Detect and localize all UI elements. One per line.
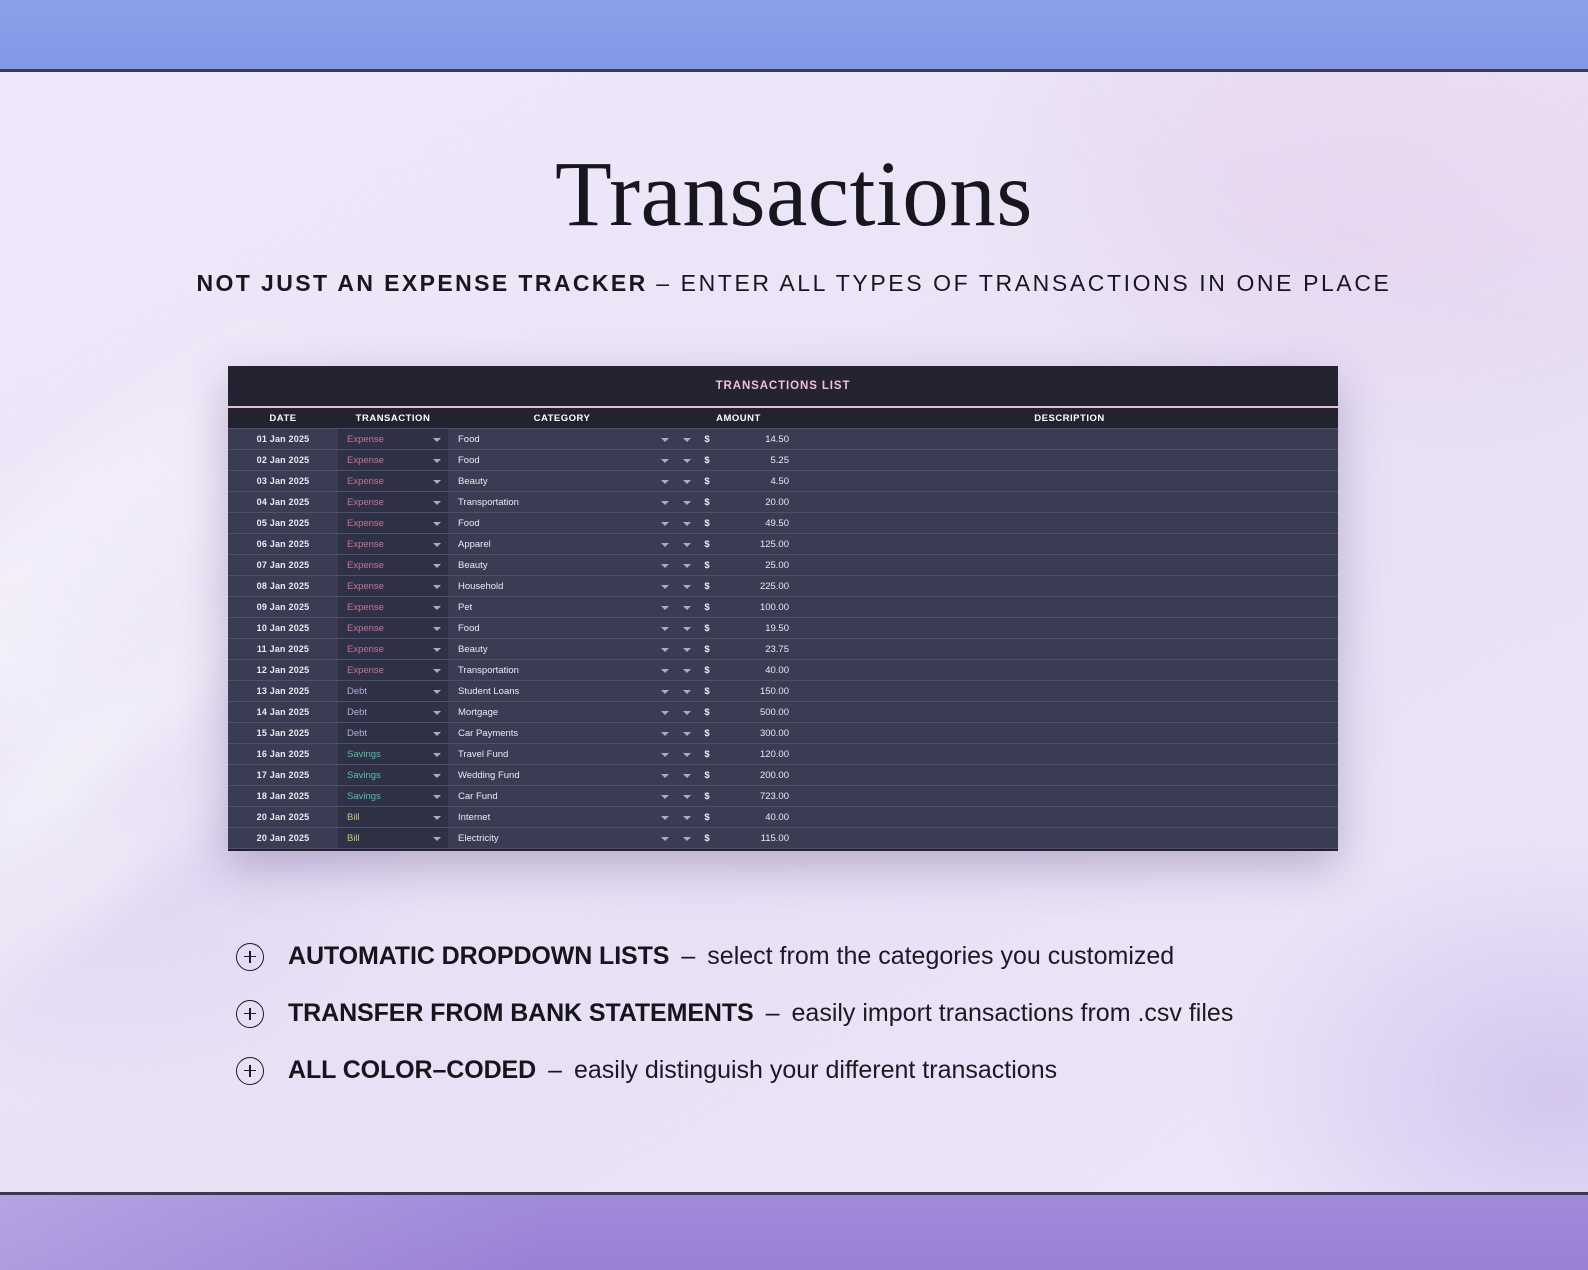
currency-symbol: $ <box>698 513 716 533</box>
category-dropdown[interactable]: Car Payments <box>448 723 676 743</box>
chevron-down-icon[interactable] <box>661 732 669 736</box>
chevron-down-icon[interactable] <box>683 711 691 715</box>
cell-amount[interactable]: 125.00 <box>716 534 801 554</box>
cell-amount[interactable]: 4.50 <box>716 471 801 491</box>
table-row[interactable]: 02 Jan 2025ExpenseFood$5.25 <box>228 450 1338 471</box>
sheet-title: TRANSACTIONS LIST <box>716 380 851 392</box>
currency-symbol: $ <box>698 555 716 575</box>
cell-amount[interactable]: 300.00 <box>716 723 801 743</box>
transaction-type-label: Savings <box>347 770 381 781</box>
transaction-type-dropdown[interactable]: Savings <box>338 786 448 806</box>
amount-dropdown[interactable] <box>676 429 698 449</box>
feature-description: easily distinguish your different transa… <box>574 1056 1057 1085</box>
cell-amount[interactable]: 25.00 <box>716 555 801 575</box>
category-dropdown[interactable]: Electricity <box>448 828 676 848</box>
category-label: Food <box>458 623 480 634</box>
amount-dropdown[interactable] <box>676 660 698 680</box>
chevron-down-icon[interactable] <box>433 690 441 694</box>
transactions-table-body: 01 Jan 2025ExpenseFood$14.5002 Jan 2025E… <box>228 429 1338 849</box>
chevron-down-icon[interactable] <box>433 837 441 841</box>
category-label: Internet <box>458 812 490 823</box>
cell-description[interactable] <box>801 618 1338 638</box>
amount-dropdown[interactable] <box>676 513 698 533</box>
category-label: Student Loans <box>458 686 519 697</box>
chevron-down-icon[interactable] <box>661 501 669 505</box>
column-header-transaction: TRANSACTION <box>338 413 448 424</box>
chevron-down-icon[interactable] <box>433 480 441 484</box>
transaction-type-label: Debt <box>347 686 367 697</box>
table-row[interactable]: 03 Jan 2025ExpenseBeauty$4.50 <box>228 471 1338 492</box>
cell-date: 07 Jan 2025 <box>228 555 338 575</box>
transaction-type-label: Bill <box>347 812 360 823</box>
chevron-down-icon[interactable] <box>661 438 669 442</box>
cell-date: 20 Jan 2025 <box>228 807 338 827</box>
feature-title: AUTOMATIC DROPDOWN LISTS <box>288 942 669 971</box>
chevron-down-icon[interactable] <box>683 690 691 694</box>
cell-description[interactable] <box>801 492 1338 512</box>
feature-description: select from the categories you customize… <box>707 942 1174 971</box>
cell-description[interactable] <box>801 555 1338 575</box>
amount-dropdown[interactable] <box>676 681 698 701</box>
chevron-down-icon[interactable] <box>683 522 691 526</box>
cell-description[interactable] <box>801 681 1338 701</box>
chevron-down-icon[interactable] <box>433 732 441 736</box>
amount-dropdown[interactable] <box>676 828 698 848</box>
chevron-down-icon[interactable] <box>661 816 669 820</box>
transaction-type-dropdown[interactable]: Expense <box>338 555 448 575</box>
cell-amount[interactable]: 200.00 <box>716 765 801 785</box>
transaction-type-dropdown[interactable]: Debt <box>338 681 448 701</box>
transaction-type-label: Savings <box>347 749 381 760</box>
cell-amount[interactable]: 100.00 <box>716 597 801 617</box>
category-dropdown[interactable]: Transportation <box>448 492 676 512</box>
currency-symbol: $ <box>698 492 716 512</box>
cell-amount[interactable]: 40.00 <box>716 807 801 827</box>
cell-amount[interactable]: 14.50 <box>716 429 801 449</box>
chevron-down-icon[interactable] <box>661 564 669 568</box>
chevron-down-icon[interactable] <box>683 564 691 568</box>
category-label: Food <box>458 518 480 529</box>
cell-date: 18 Jan 2025 <box>228 786 338 806</box>
transaction-type-dropdown[interactable]: Debt <box>338 723 448 743</box>
chevron-down-icon[interactable] <box>433 564 441 568</box>
currency-symbol: $ <box>698 765 716 785</box>
cell-description[interactable] <box>801 576 1338 596</box>
chevron-down-icon[interactable] <box>433 501 441 505</box>
currency-symbol: $ <box>698 702 716 722</box>
category-dropdown[interactable]: Transportation <box>448 660 676 680</box>
chevron-down-icon[interactable] <box>661 711 669 715</box>
transactions-spreadsheet: TRANSACTIONS LIST DATE TRANSACTION CATEG… <box>228 366 1338 851</box>
table-row[interactable]: 17 Jan 2025SavingsWedding Fund$200.00 <box>228 765 1338 786</box>
chevron-down-icon[interactable] <box>661 690 669 694</box>
feature-description: easily import transactions from .csv fil… <box>792 999 1234 1028</box>
category-label: Wedding Fund <box>458 770 520 781</box>
plus-circle-icon <box>236 943 264 971</box>
cell-date: 01 Jan 2025 <box>228 429 338 449</box>
currency-symbol: $ <box>698 534 716 554</box>
currency-symbol: $ <box>698 807 716 827</box>
transaction-type-dropdown[interactable]: Expense <box>338 576 448 596</box>
category-dropdown[interactable]: Food <box>448 618 676 638</box>
currency-symbol: $ <box>698 450 716 470</box>
feature-list: AUTOMATIC DROPDOWN LISTS–select from the… <box>236 928 1456 1099</box>
transaction-type-label: Expense <box>347 455 384 466</box>
feature-title: TRANSFER FROM BANK STATEMENTS <box>288 999 754 1028</box>
category-dropdown[interactable]: Car Fund <box>448 786 676 806</box>
transaction-type-dropdown[interactable]: Expense <box>338 639 448 659</box>
amount-dropdown[interactable] <box>676 597 698 617</box>
category-label: Apparel <box>458 539 491 550</box>
table-row[interactable]: 05 Jan 2025ExpenseFood$49.50 <box>228 513 1338 534</box>
transaction-type-label: Expense <box>347 476 384 487</box>
category-label: Electricity <box>458 833 499 844</box>
cell-description[interactable] <box>801 744 1338 764</box>
column-header-date: DATE <box>228 413 338 424</box>
cell-amount[interactable]: 723.00 <box>716 786 801 806</box>
transaction-type-label: Expense <box>347 644 384 655</box>
chevron-down-icon[interactable] <box>433 585 441 589</box>
cell-date: 20 Jan 2025 <box>228 828 338 848</box>
sheet-titlebar: TRANSACTIONS LIST <box>228 366 1338 408</box>
chevron-down-icon[interactable] <box>661 648 669 652</box>
cell-description[interactable] <box>801 429 1338 449</box>
chevron-down-icon[interactable] <box>661 459 669 463</box>
cell-amount[interactable]: 500.00 <box>716 702 801 722</box>
cell-description[interactable] <box>801 597 1338 617</box>
chevron-down-icon[interactable] <box>683 480 691 484</box>
cell-amount[interactable]: 120.00 <box>716 744 801 764</box>
table-row[interactable]: 14 Jan 2025DebtMortgage$500.00 <box>228 702 1338 723</box>
category-dropdown[interactable]: Student Loans <box>448 681 676 701</box>
currency-symbol: $ <box>698 828 716 848</box>
cell-description[interactable] <box>801 807 1338 827</box>
cell-date: 03 Jan 2025 <box>228 471 338 491</box>
chevron-down-icon[interactable] <box>661 774 669 778</box>
transaction-type-dropdown[interactable]: Expense <box>338 471 448 491</box>
top-color-band <box>0 0 1588 72</box>
chevron-down-icon[interactable] <box>433 438 441 442</box>
chevron-down-icon[interactable] <box>433 648 441 652</box>
cell-description[interactable] <box>801 450 1338 470</box>
cell-amount[interactable]: 5.25 <box>716 450 801 470</box>
transaction-type-dropdown[interactable]: Savings <box>338 765 448 785</box>
transaction-type-dropdown[interactable]: Expense <box>338 534 448 554</box>
feature-dash: – <box>766 999 780 1028</box>
transaction-type-dropdown[interactable]: Bill <box>338 828 448 848</box>
chevron-down-icon[interactable] <box>683 606 691 610</box>
chevron-down-icon[interactable] <box>661 669 669 673</box>
cell-date: 15 Jan 2025 <box>228 723 338 743</box>
category-dropdown[interactable]: Mortgage <box>448 702 676 722</box>
transaction-type-dropdown[interactable]: Expense <box>338 429 448 449</box>
transaction-type-dropdown[interactable]: Expense <box>338 450 448 470</box>
cell-amount[interactable]: 19.50 <box>716 618 801 638</box>
table-row[interactable]: 20 Jan 2025BillInternet$40.00 <box>228 807 1338 828</box>
category-label: Mortgage <box>458 707 498 718</box>
subtitle-strong: NOT JUST AN EXPENSE TRACKER <box>197 270 648 296</box>
cell-date: 16 Jan 2025 <box>228 744 338 764</box>
table-row[interactable]: 16 Jan 2025SavingsTravel Fund$120.00 <box>228 744 1338 765</box>
cell-description[interactable] <box>801 513 1338 533</box>
feature-title: ALL COLOR–CODED <box>288 1056 536 1085</box>
currency-symbol: $ <box>698 618 716 638</box>
cell-amount[interactable]: 49.50 <box>716 513 801 533</box>
transaction-type-label: Expense <box>347 665 384 676</box>
page-subtitle: NOT JUST AN EXPENSE TRACKER – ENTER ALL … <box>0 270 1588 297</box>
chevron-down-icon[interactable] <box>683 753 691 757</box>
transaction-type-dropdown[interactable]: Expense <box>338 513 448 533</box>
chevron-down-icon[interactable] <box>661 606 669 610</box>
cell-date: 13 Jan 2025 <box>228 681 338 701</box>
column-header-category: CATEGORY <box>448 413 676 424</box>
chevron-down-icon[interactable] <box>683 501 691 505</box>
transaction-type-dropdown[interactable]: Savings <box>338 744 448 764</box>
amount-dropdown[interactable] <box>676 639 698 659</box>
amount-dropdown[interactable] <box>676 765 698 785</box>
transaction-type-dropdown[interactable]: Bill <box>338 807 448 827</box>
transaction-type-label: Debt <box>347 728 367 739</box>
currency-symbol: $ <box>698 597 716 617</box>
transaction-type-label: Expense <box>347 434 384 445</box>
cell-amount[interactable]: 23.75 <box>716 639 801 659</box>
table-row[interactable]: 08 Jan 2025ExpenseHousehold$225.00 <box>228 576 1338 597</box>
cell-description[interactable] <box>801 765 1338 785</box>
currency-symbol: $ <box>698 429 716 449</box>
chevron-down-icon[interactable] <box>433 816 441 820</box>
chevron-down-icon[interactable] <box>661 837 669 841</box>
category-label: Transportation <box>458 497 519 508</box>
chevron-down-icon[interactable] <box>683 648 691 652</box>
cell-date: 11 Jan 2025 <box>228 639 338 659</box>
cell-description[interactable] <box>801 534 1338 554</box>
category-label: Beauty <box>458 644 488 655</box>
cell-amount[interactable]: 150.00 <box>716 681 801 701</box>
chevron-down-icon[interactable] <box>433 795 441 799</box>
transaction-type-dropdown[interactable]: Expense <box>338 597 448 617</box>
chevron-down-icon[interactable] <box>433 459 441 463</box>
subtitle-rest: – ENTER ALL TYPES OF TRANSACTIONS IN ONE… <box>656 270 1391 296</box>
chevron-down-icon[interactable] <box>683 774 691 778</box>
cell-date: 10 Jan 2025 <box>228 618 338 638</box>
currency-symbol: $ <box>698 786 716 806</box>
amount-dropdown[interactable] <box>676 450 698 470</box>
category-label: Pet <box>458 602 472 613</box>
feature-item: ALL COLOR–CODED–easily distinguish your … <box>236 1042 1456 1099</box>
transaction-type-dropdown[interactable]: Expense <box>338 618 448 638</box>
chevron-down-icon[interactable] <box>683 585 691 589</box>
currency-symbol: $ <box>698 471 716 491</box>
amount-dropdown[interactable] <box>676 723 698 743</box>
chevron-down-icon[interactable] <box>683 459 691 463</box>
category-label: Car Fund <box>458 791 498 802</box>
table-column-headers: DATE TRANSACTION CATEGORY AMOUNT DESCRIP… <box>228 408 1338 429</box>
bottom-color-band <box>0 1192 1588 1270</box>
cell-amount[interactable]: 225.00 <box>716 576 801 596</box>
chevron-down-icon[interactable] <box>683 732 691 736</box>
cell-date: 08 Jan 2025 <box>228 576 338 596</box>
cell-amount[interactable]: 40.00 <box>716 660 801 680</box>
cell-amount[interactable]: 115.00 <box>716 828 801 848</box>
cell-description[interactable] <box>801 723 1338 743</box>
chevron-down-icon[interactable] <box>433 627 441 631</box>
table-row[interactable]: 15 Jan 2025DebtCar Payments$300.00 <box>228 723 1338 744</box>
transaction-type-label: Expense <box>347 497 384 508</box>
amount-dropdown[interactable] <box>676 576 698 596</box>
feature-item: AUTOMATIC DROPDOWN LISTS–select from the… <box>236 928 1456 985</box>
category-label: Transportation <box>458 665 519 676</box>
category-label: Food <box>458 434 480 445</box>
amount-dropdown[interactable] <box>676 471 698 491</box>
amount-dropdown[interactable] <box>676 534 698 554</box>
cell-description[interactable] <box>801 828 1338 848</box>
cell-date: 17 Jan 2025 <box>228 765 338 785</box>
amount-dropdown[interactable] <box>676 702 698 722</box>
category-dropdown[interactable]: Apparel <box>448 534 676 554</box>
category-dropdown[interactable]: Wedding Fund <box>448 765 676 785</box>
chevron-down-icon[interactable] <box>683 837 691 841</box>
feature-dash: – <box>548 1056 562 1085</box>
promo-slide: Transactions NOT JUST AN EXPENSE TRACKER… <box>0 0 1588 1270</box>
chevron-down-icon[interactable] <box>433 669 441 673</box>
chevron-down-icon[interactable] <box>433 543 441 547</box>
table-row[interactable]: 13 Jan 2025DebtStudent Loans$150.00 <box>228 681 1338 702</box>
transaction-type-dropdown[interactable]: Expense <box>338 660 448 680</box>
currency-symbol: $ <box>698 576 716 596</box>
category-label: Car Payments <box>458 728 518 739</box>
transaction-type-dropdown[interactable]: Debt <box>338 702 448 722</box>
table-row[interactable]: 10 Jan 2025ExpenseFood$19.50 <box>228 618 1338 639</box>
currency-symbol: $ <box>698 681 716 701</box>
transaction-type-dropdown[interactable]: Expense <box>338 492 448 512</box>
category-label: Travel Fund <box>458 749 508 760</box>
transaction-type-label: Bill <box>347 833 360 844</box>
cell-amount[interactable]: 20.00 <box>716 492 801 512</box>
chevron-down-icon[interactable] <box>661 753 669 757</box>
chevron-down-icon[interactable] <box>683 795 691 799</box>
cell-date: 05 Jan 2025 <box>228 513 338 533</box>
amount-dropdown[interactable] <box>676 492 698 512</box>
table-row[interactable]: 20 Jan 2025BillElectricity$115.00 <box>228 828 1338 849</box>
category-label: Household <box>458 581 503 592</box>
category-label: Food <box>458 455 480 466</box>
chevron-down-icon[interactable] <box>683 669 691 673</box>
currency-symbol: $ <box>698 723 716 743</box>
column-header-amount: AMOUNT <box>676 413 801 424</box>
category-dropdown[interactable]: Beauty <box>448 471 676 491</box>
chevron-down-icon[interactable] <box>661 480 669 484</box>
cell-date: 09 Jan 2025 <box>228 597 338 617</box>
table-row[interactable]: 06 Jan 2025ExpenseApparel$125.00 <box>228 534 1338 555</box>
chevron-down-icon[interactable] <box>661 522 669 526</box>
amount-dropdown[interactable] <box>676 807 698 827</box>
plus-circle-icon <box>236 1000 264 1028</box>
chevron-down-icon[interactable] <box>683 543 691 547</box>
table-row[interactable]: 09 Jan 2025ExpensePet$100.00 <box>228 597 1338 618</box>
category-dropdown[interactable]: Beauty <box>448 639 676 659</box>
cell-description[interactable] <box>801 702 1338 722</box>
chevron-down-icon[interactable] <box>433 522 441 526</box>
chevron-down-icon[interactable] <box>661 543 669 547</box>
cell-description[interactable] <box>801 786 1338 806</box>
chevron-down-icon[interactable] <box>433 774 441 778</box>
amount-dropdown[interactable] <box>676 555 698 575</box>
chevron-down-icon[interactable] <box>661 795 669 799</box>
table-row[interactable]: 04 Jan 2025ExpenseTransportation$20.00 <box>228 492 1338 513</box>
category-dropdown[interactable]: Food <box>448 450 676 470</box>
category-dropdown[interactable]: Food <box>448 513 676 533</box>
currency-symbol: $ <box>698 639 716 659</box>
currency-symbol: $ <box>698 744 716 764</box>
transaction-type-label: Expense <box>347 518 384 529</box>
category-dropdown[interactable]: Pet <box>448 597 676 617</box>
cell-date: 02 Jan 2025 <box>228 450 338 470</box>
category-dropdown[interactable]: Household <box>448 576 676 596</box>
chevron-down-icon[interactable] <box>661 627 669 631</box>
transaction-type-label: Expense <box>347 602 384 613</box>
category-label: Beauty <box>458 560 488 571</box>
feature-item: TRANSFER FROM BANK STATEMENTS–easily imp… <box>236 985 1456 1042</box>
transaction-type-label: Savings <box>347 791 381 802</box>
table-row[interactable]: 12 Jan 2025ExpenseTransportation$40.00 <box>228 660 1338 681</box>
amount-dropdown[interactable] <box>676 618 698 638</box>
column-header-description: DESCRIPTION <box>801 413 1338 424</box>
chevron-down-icon[interactable] <box>433 753 441 757</box>
category-dropdown[interactable]: Beauty <box>448 555 676 575</box>
transaction-type-label: Debt <box>347 707 367 718</box>
plus-circle-icon <box>236 1057 264 1085</box>
transaction-type-label: Expense <box>347 560 384 571</box>
chevron-down-icon[interactable] <box>683 438 691 442</box>
cell-date: 14 Jan 2025 <box>228 702 338 722</box>
chevron-down-icon[interactable] <box>433 606 441 610</box>
category-label: Beauty <box>458 476 488 487</box>
page-title: Transactions <box>0 148 1588 241</box>
cell-description[interactable] <box>801 471 1338 491</box>
currency-symbol: $ <box>698 660 716 680</box>
cell-description[interactable] <box>801 660 1338 680</box>
feature-dash: – <box>681 942 695 971</box>
table-row[interactable]: 07 Jan 2025ExpenseBeauty$25.00 <box>228 555 1338 576</box>
chevron-down-icon[interactable] <box>433 711 441 715</box>
transaction-type-label: Expense <box>347 581 384 592</box>
transaction-type-label: Expense <box>347 539 384 550</box>
chevron-down-icon[interactable] <box>661 585 669 589</box>
cell-date: 04 Jan 2025 <box>228 492 338 512</box>
category-dropdown[interactable]: Internet <box>448 807 676 827</box>
table-row[interactable]: 11 Jan 2025ExpenseBeauty$23.75 <box>228 639 1338 660</box>
category-dropdown[interactable]: Food <box>448 429 676 449</box>
table-row[interactable]: 18 Jan 2025SavingsCar Fund$723.00 <box>228 786 1338 807</box>
amount-dropdown[interactable] <box>676 786 698 806</box>
chevron-down-icon[interactable] <box>683 627 691 631</box>
cell-date: 06 Jan 2025 <box>228 534 338 554</box>
category-dropdown[interactable]: Travel Fund <box>448 744 676 764</box>
transaction-type-label: Expense <box>347 623 384 634</box>
amount-dropdown[interactable] <box>676 744 698 764</box>
table-row[interactable]: 01 Jan 2025ExpenseFood$14.50 <box>228 429 1338 450</box>
cell-date: 12 Jan 2025 <box>228 660 338 680</box>
cell-description[interactable] <box>801 639 1338 659</box>
chevron-down-icon[interactable] <box>683 816 691 820</box>
